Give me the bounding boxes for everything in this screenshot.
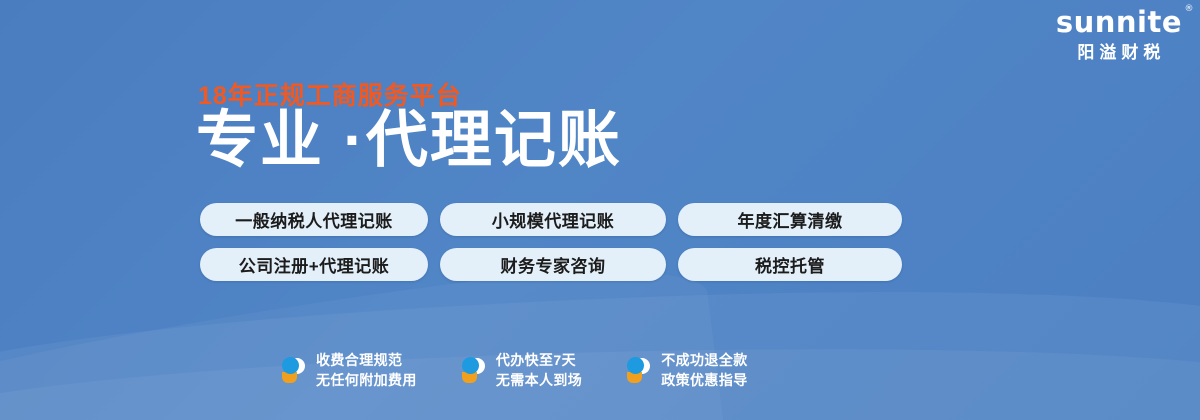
service-pill-grid: 一般纳税人代理记账 小规模代理记账 年度汇算清缴 公司注册+代理记账 财务专家咨… [200, 203, 902, 281]
logo-wordmark: sunnite ® [1056, 8, 1182, 37]
service-pill[interactable]: 公司注册+代理记账 [200, 248, 428, 281]
service-pill[interactable]: 一般纳税人代理记账 [200, 203, 428, 236]
feature-text: 代办快至7天 无需本人到场 [496, 352, 582, 389]
feature-line-2: 无任何附加费用 [316, 372, 417, 389]
feature-list: 收费合理规范 无任何附加费用 代办快至7天 无需本人到场 不成功退全款 [278, 352, 748, 389]
feature-line-1: 收费合理规范 [316, 352, 417, 369]
promo-banner: sunnite ® 阳溢财税 18年正规工商服务平台 专业 ·代理记账 一般纳税… [0, 0, 1200, 420]
service-pill[interactable]: 小规模代理记账 [440, 203, 666, 236]
brand-logo[interactable]: sunnite ® 阳溢财税 [1056, 8, 1182, 61]
page-title: 专业 ·代理记账 [196, 108, 622, 173]
feature-text: 收费合理规范 无任何附加费用 [316, 352, 417, 389]
feature-item: 收费合理规范 无任何附加费用 [278, 352, 417, 389]
feature-line-2: 政策优惠指导 [661, 372, 747, 389]
logo-wordmark-text: sunnite [1056, 5, 1182, 39]
eclipse-dot-icon [623, 354, 653, 388]
service-pill[interactable]: 财务专家咨询 [440, 248, 666, 281]
feature-line-2: 无需本人到场 [496, 372, 582, 389]
feature-line-1: 不成功退全款 [661, 352, 747, 369]
feature-line-1: 代办快至7天 [496, 352, 582, 369]
service-pill[interactable]: 税控托管 [678, 248, 902, 281]
feature-text: 不成功退全款 政策优惠指导 [661, 352, 747, 389]
feature-item: 不成功退全款 政策优惠指导 [623, 352, 747, 389]
logo-chinese-name: 阳溢财税 [1056, 44, 1182, 61]
service-pill[interactable]: 年度汇算清缴 [678, 203, 902, 236]
eclipse-dot-icon [458, 354, 488, 388]
registered-trademark-icon: ® [1185, 5, 1195, 14]
feature-item: 代办快至7天 无需本人到场 [458, 352, 582, 389]
eclipse-dot-icon [278, 354, 308, 388]
